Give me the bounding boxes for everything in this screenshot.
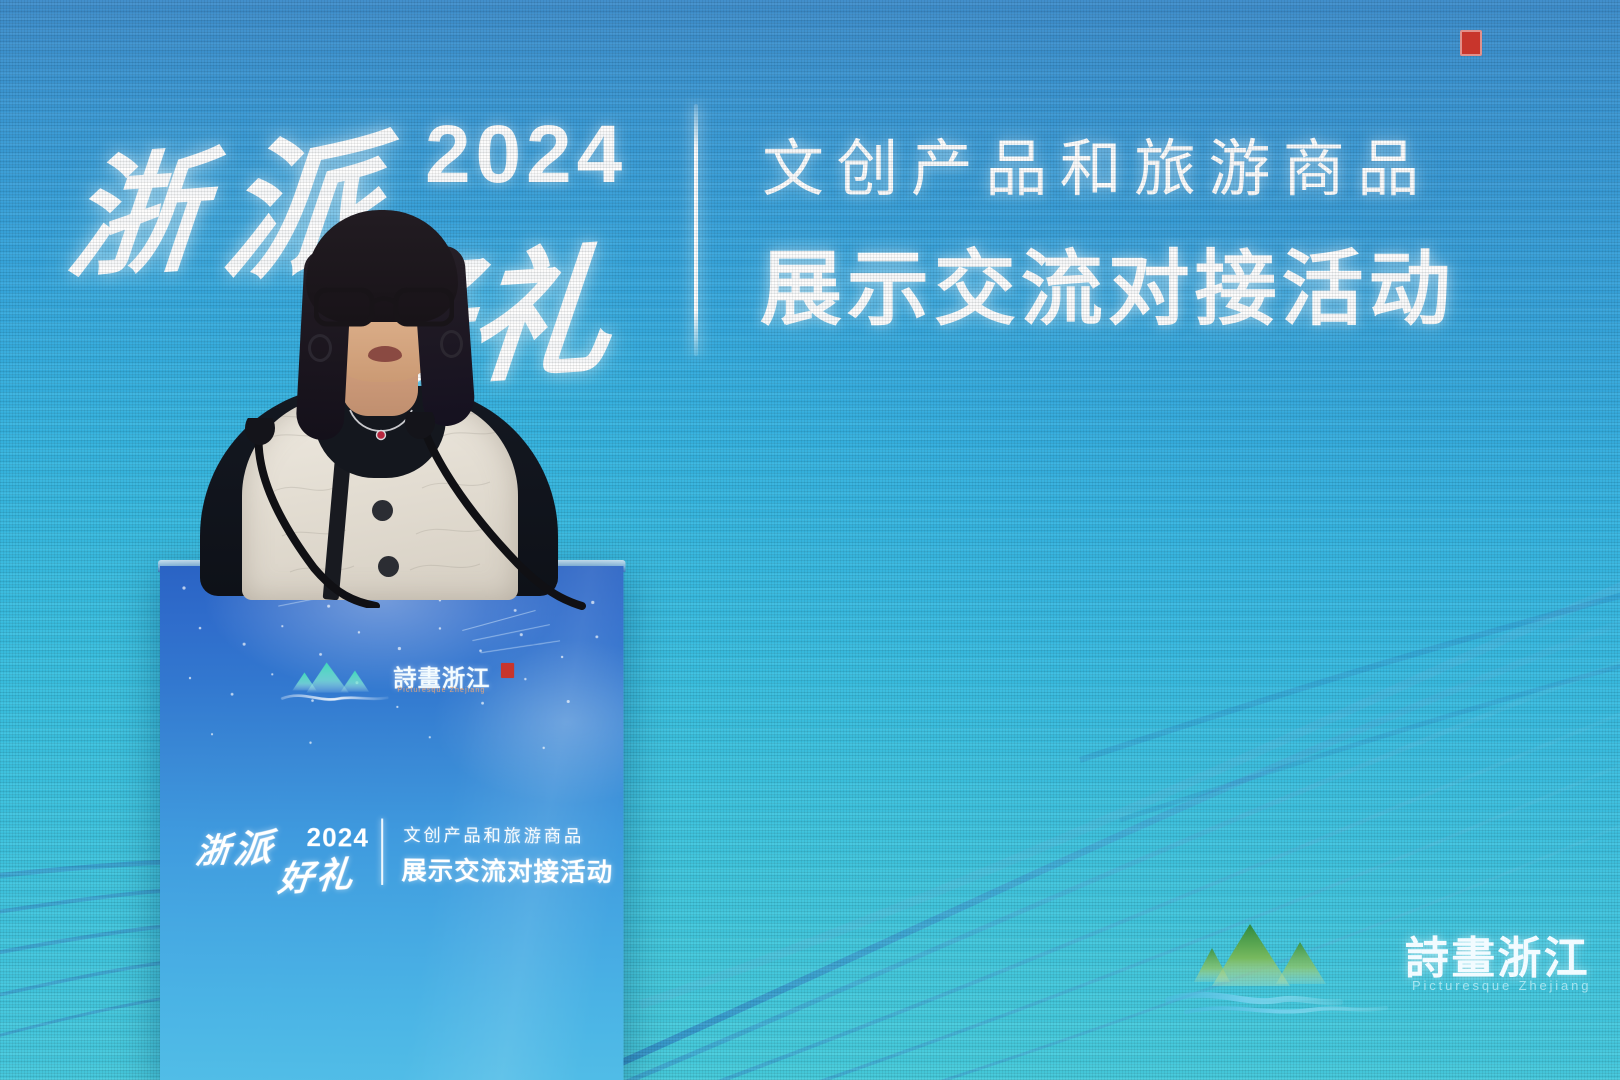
mountain-icon	[1150, 890, 1420, 1030]
podium-event-lockup: 浙 派 好 礼 2024 文创产品和旅游商品 展示交流对接活动	[190, 801, 605, 895]
watermark-pinyin: Picturesque Zhejiang	[1412, 978, 1591, 993]
podium-calligraphy-char-2: 派	[231, 817, 274, 874]
podium-calligraphy-char-3: 好	[276, 849, 316, 902]
podium-mountain-icon	[280, 656, 391, 705]
podium-divider	[381, 819, 383, 885]
podium-logo-seal-icon	[501, 663, 514, 678]
earring-right-icon	[440, 330, 463, 358]
podium-year-label: 2024	[306, 822, 369, 854]
necklace-icon	[346, 408, 416, 450]
watermark-seal-icon	[1460, 30, 1482, 56]
vest-button-3	[378, 556, 399, 577]
earring-left-icon	[308, 334, 332, 362]
podium-calligraphy-char-1: 浙	[194, 822, 233, 873]
glasses-icon	[314, 284, 454, 328]
speaker-mouth	[368, 346, 402, 362]
podium-subtitle-line: 文创产品和旅游商品	[403, 821, 584, 848]
podium-main-line: 展示交流对接活动	[401, 851, 613, 889]
picturesque-zhejiang-watermark: 詩畫浙江 Picturesque Zhejiang	[1150, 890, 1590, 1040]
watermark-title: 詩畫浙江	[1405, 922, 1590, 986]
stage-photo: 浙 派 好 礼 2024 文创产品和旅游商品 展示交流对接活动	[0, 0, 1620, 1080]
podium-logo-pinyin: Picturesque Zhejiang	[397, 687, 485, 694]
vest-button-2	[372, 500, 393, 521]
podium: 詩畫浙江 Picturesque Zhejiang 浙 派 好 礼 2024 文…	[160, 566, 623, 1080]
speaker-person	[196, 210, 568, 590]
podium-zhejiang-logo: 詩畫浙江 Picturesque Zhejiang	[280, 648, 533, 709]
